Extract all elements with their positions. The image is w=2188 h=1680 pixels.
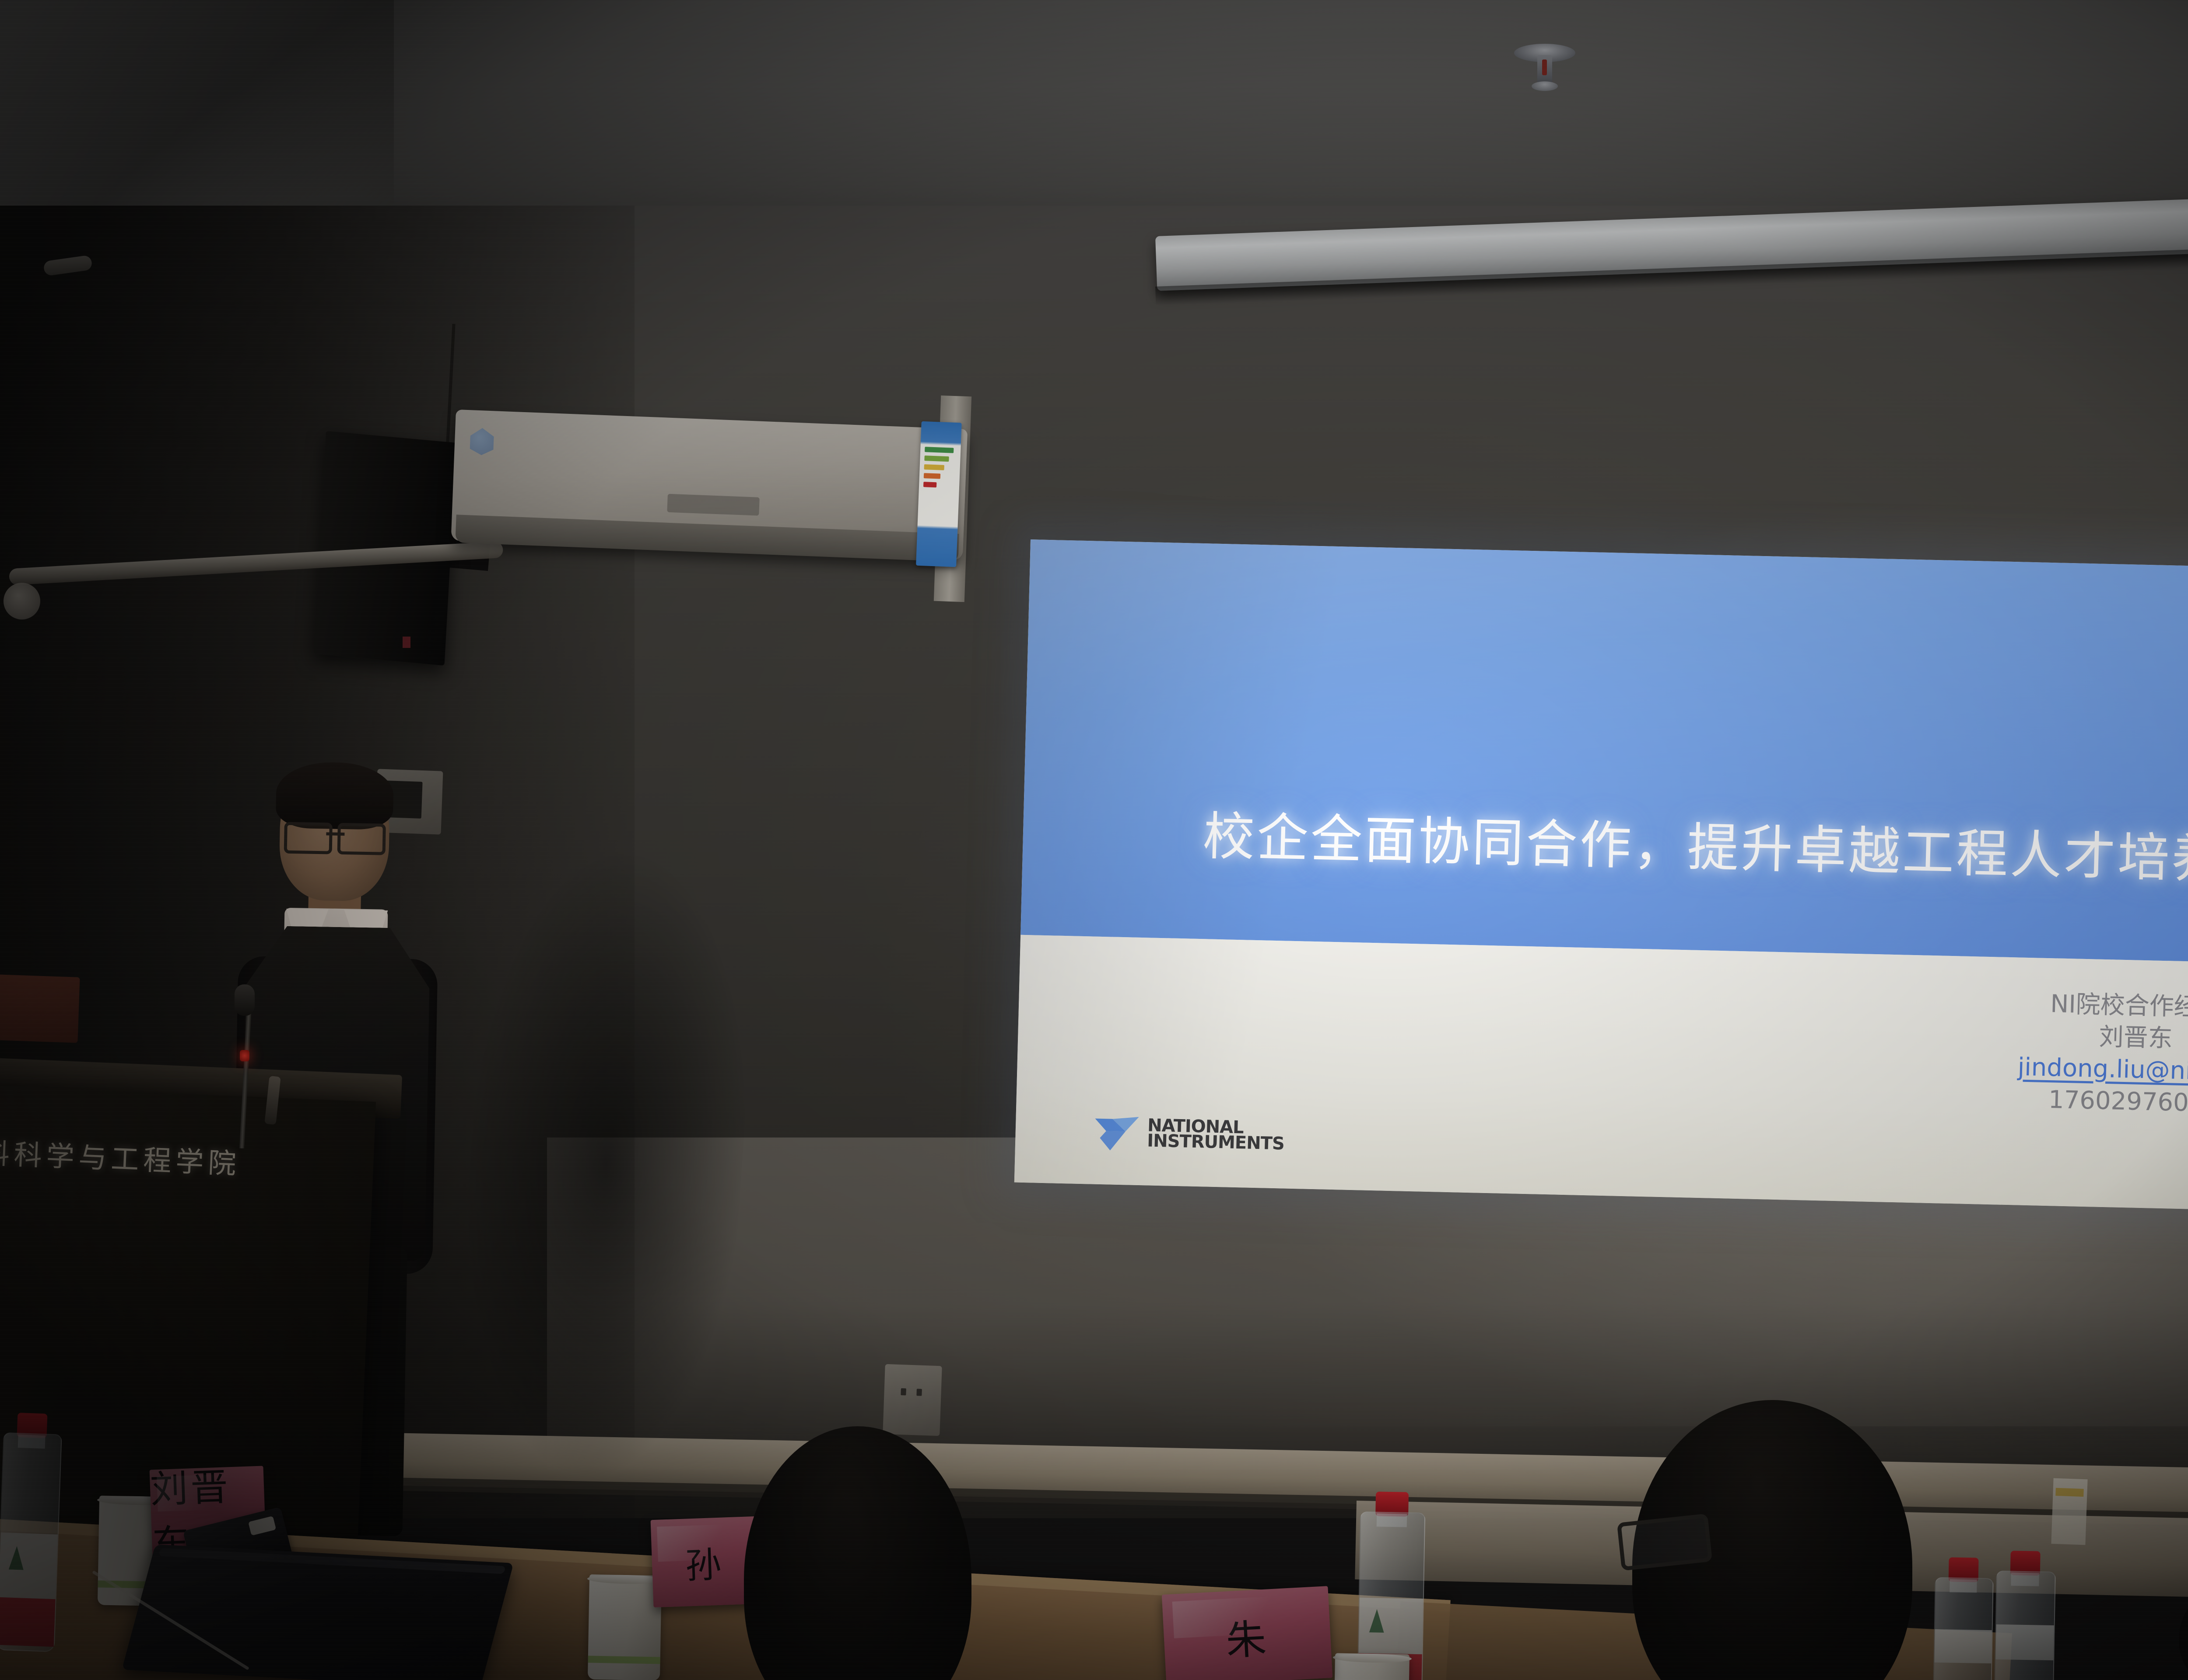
- ac-display-panel: [667, 494, 760, 516]
- glasses-bridge: [326, 832, 344, 836]
- wall-conduit-cap: [4, 583, 40, 619]
- lecture-room-photo: Redleaf 校企全面协同合作，提升卓越工程人才培养质量 NI院校合作经理 刘…: [0, 0, 2188, 1680]
- projection-screen[interactable]: 校企全面协同合作，提升卓越工程人才培养质量 NI院校合作经理 刘晋东 jindo…: [1014, 539, 2188, 1216]
- ac-brand-badge-icon: [467, 427, 496, 455]
- placard-sheen: [157, 1473, 258, 1512]
- water-bottle[interactable]: [1357, 1491, 1424, 1680]
- tag-yellow-stripe: [2055, 1488, 2084, 1497]
- bottle-label: [1995, 1624, 2054, 1660]
- audience-glasses-icon: [1617, 1513, 1712, 1571]
- ac-energy-label: [916, 421, 962, 567]
- placard-sheen: [1172, 1594, 1320, 1638]
- national-instruments-logo: NATIONAL INSTRUMENTS: [1093, 1113, 1285, 1155]
- bottle-body: [0, 1432, 62, 1652]
- placard-sheen: [657, 1523, 751, 1561]
- outlet-slot-left: [901, 1388, 906, 1395]
- water-bottle[interactable]: [1933, 1557, 1992, 1680]
- paper-cup[interactable]: [1334, 1653, 1410, 1680]
- slide-blue-band: [1020, 539, 2188, 969]
- ni-wordmark: NATIONAL INSTRUMENTS: [1147, 1118, 1285, 1151]
- paper-cup[interactable]: [588, 1575, 662, 1680]
- remote-button[interactable]: [248, 1516, 276, 1536]
- bottle-label: [0, 1533, 58, 1599]
- water-bottle[interactable]: [0, 1412, 61, 1650]
- sprinkler-bulb: [1542, 59, 1547, 75]
- podium-department-sign: 料科学与工程学院: [0, 1131, 228, 1189]
- name-placard: 朱: [1162, 1586, 1332, 1680]
- air-conditioner: [451, 409, 968, 560]
- microphone-power-led-icon: [240, 1050, 249, 1061]
- speaker-led-icon: [403, 637, 410, 648]
- slide: 校企全面协同合作，提升卓越工程人才培养质量 NI院校合作经理 刘晋东 jindo…: [1014, 539, 2188, 1216]
- bottle-body: [1933, 1577, 1993, 1680]
- water-bottle[interactable]: [1994, 1550, 2054, 1680]
- wall-equipment-tag: [2051, 1478, 2087, 1545]
- outlet-slot-right: [916, 1389, 922, 1396]
- presenter-hair: [276, 761, 394, 830]
- ni-wordmark-line2: INSTRUMENTS: [1147, 1133, 1284, 1151]
- wall-power-outlet[interactable]: [883, 1364, 942, 1436]
- presenter-glasses-icon: [284, 822, 386, 851]
- sprinkler-deflector: [1532, 81, 1558, 91]
- glasses-lens-right: [337, 823, 386, 855]
- bottle-label: [1359, 1598, 1423, 1655]
- cup-rim: [1333, 1653, 1412, 1663]
- fire-sprinkler-icon: [1514, 26, 1575, 79]
- name-placard: 孙: [651, 1516, 759, 1607]
- microphone-head-icon: [235, 984, 255, 1016]
- presenter-shadow: [449, 844, 763, 1483]
- presenter-laptop[interactable]: [122, 1544, 514, 1680]
- cup-stripe: [588, 1655, 660, 1664]
- bottle-label: [1934, 1629, 1992, 1663]
- bottle-body: [1994, 1571, 2056, 1680]
- glasses-lens-left: [284, 822, 333, 854]
- podium-side-box: [0, 974, 80, 1043]
- slide-contact-block: NI院校合作经理 刘晋东 jindong.liu@ni.com 17602976…: [1791, 983, 2188, 1126]
- ni-eagle-mark-icon: [1093, 1113, 1141, 1151]
- bottle-label-red: [0, 1597, 56, 1647]
